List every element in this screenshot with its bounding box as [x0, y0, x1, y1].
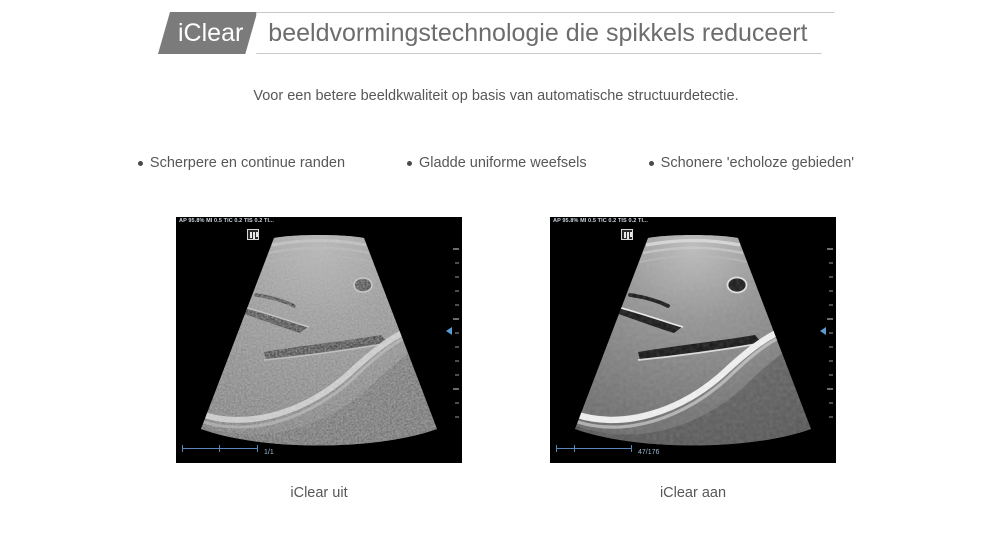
frame-counter: 1/1 — [264, 449, 274, 456]
bullet-label: Schonere 'echoloze gebieden' — [661, 155, 854, 171]
frame-counter: 47/176 — [638, 449, 659, 456]
scale-line — [575, 448, 631, 449]
tgc-curve-icon — [621, 229, 633, 240]
scale-line — [220, 448, 257, 449]
ultrasound-scale-bar — [556, 444, 632, 453]
ultrasound-image-iclear-on: AP 95.8% MI 0.5 TIC 0.2 TIS 0.2 TI... 47… — [550, 217, 836, 463]
banner: iClear beeldvormingstechnologie die spik… — [158, 12, 835, 54]
bullet-label: Gladde uniforme weefsels — [419, 155, 587, 171]
comparison-panel-left: AP 95.8% MI 0.5 TIC 0.2 TIS 0.2 TI... 1/… — [176, 217, 462, 501]
list-item: Schonere 'echoloze gebieden' — [649, 155, 854, 171]
ultrasound-overlay-text: AP 95.8% MI 0.5 TIC 0.2 TIS 0.2 TI... — [179, 218, 274, 224]
scale-line — [183, 448, 219, 449]
bullet-label: Scherpere en continue randen — [150, 155, 345, 171]
ultrasound-overlay-text: AP 95.8% MI 0.5 TIC 0.2 TIS 0.2 TI... — [553, 218, 648, 224]
caption-right: iClear aan — [550, 485, 836, 501]
list-item: Scherpere en continue randen — [138, 155, 345, 171]
list-item: Gladde uniforme weefsels — [407, 155, 587, 171]
ultrasound-sector-off — [176, 217, 462, 463]
ultrasound-sector-on — [550, 217, 836, 463]
image-comparison-row: AP 95.8% MI 0.5 TIC 0.2 TIS 0.2 TI... 1/… — [176, 217, 836, 501]
comparison-panel-right: AP 95.8% MI 0.5 TIC 0.2 TIS 0.2 TI... 47… — [550, 217, 836, 501]
ultrasound-scale-bar — [182, 444, 258, 453]
scale-tick-end — [257, 445, 258, 452]
tgc-curve-icon — [247, 229, 259, 240]
banner-badge: iClear — [158, 12, 257, 54]
subtitle: Voor een betere beeldkwaliteit op basis … — [0, 88, 992, 104]
bullet-dot-icon — [649, 161, 654, 166]
feature-bullet-list: Scherpere en continue randen Gladde unif… — [0, 155, 992, 171]
banner-title: beeldvormingstechnologie die spikkels re… — [256, 12, 834, 54]
scale-tick-end — [631, 445, 632, 452]
bullet-dot-icon — [407, 161, 412, 166]
ultrasound-image-iclear-off: AP 95.8% MI 0.5 TIC 0.2 TIS 0.2 TI... 1/… — [176, 217, 462, 463]
scale-line — [557, 448, 574, 449]
bullet-dot-icon — [138, 161, 143, 166]
caption-left: iClear uit — [176, 485, 462, 501]
